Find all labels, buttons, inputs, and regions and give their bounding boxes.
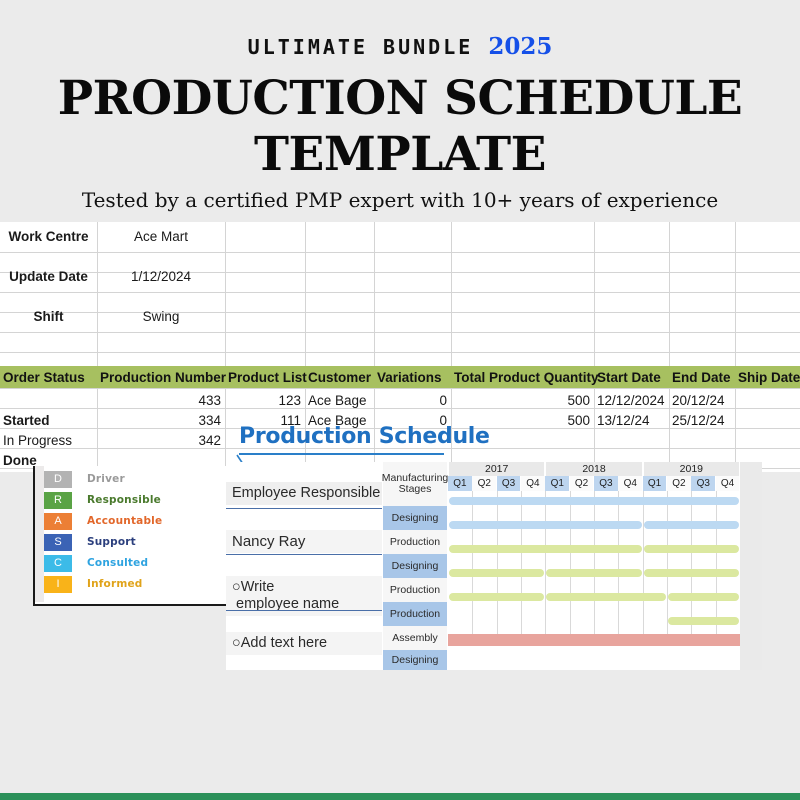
stage-cell[interactable]: Designing [383,554,447,578]
raci-key-chip: S [44,534,72,551]
gantt-bar[interactable] [644,545,739,553]
raci-key-chip: I [44,576,72,593]
gantt-bar[interactable] [449,545,642,553]
gantt-quarter-label[interactable]: Q4 [618,476,642,491]
grid-row-line [0,388,800,389]
grid-column-line [669,222,670,472]
gantt-quarter-label[interactable]: Q4 [716,476,740,491]
order-table-cell[interactable]: 500 [451,390,594,410]
order-table-cell[interactable]: 433 [97,390,225,410]
stage-cell[interactable]: Production [383,602,447,626]
employee-row-separator [226,610,382,611]
gantt-gridline [570,491,571,634]
stage-cell[interactable]: Production [383,530,447,554]
order-column-header[interactable]: Ship Date [735,366,800,388]
gantt-gridline [716,491,717,634]
stage-cell[interactable]: Production [383,578,447,602]
stages-header-text: ManufacturingStages [382,473,449,495]
gantt-plot-area[interactable] [448,491,740,670]
order-column-header[interactable]: Customer [305,366,374,388]
gantt-year-label: 2018 [546,462,641,476]
kicker-text: ULTIMATE BUNDLE [248,35,474,59]
order-table-cell[interactable]: 334 [97,410,225,430]
info-row-value[interactable]: Ace Mart [97,224,225,248]
order-table-cell[interactable]: Ace Bage [305,390,374,410]
employee-name-cell[interactable]: Nancy Ray [226,530,382,553]
stage-cell[interactable]: Designing [383,506,447,530]
order-table-cell[interactable]: Ace Bage [305,410,374,430]
employee-text: ○Add text here [226,635,382,652]
gantt-bar-highlight[interactable] [448,634,740,646]
info-row-value[interactable]: 1/12/2024 [97,264,225,288]
gantt-quarter-label[interactable]: Q4 [521,476,545,491]
order-table-cell[interactable]: 13/12/24 [594,410,669,430]
grid-column-line [735,222,736,472]
raci-key-label: Accountable [87,515,162,527]
poster-title-line-1: PRODUCTION SCHEDULE [0,75,800,122]
gantt-bar[interactable] [546,593,666,601]
manufacturing-stages-column[interactable]: ManufacturingStagesDesigningProductionDe… [383,462,447,670]
raci-legend-item[interactable]: IInformed [44,575,143,593]
gantt-gridline [594,491,595,634]
gantt-gridline [667,491,668,634]
order-column-header[interactable]: Order Status [0,366,97,388]
gantt-year-header: 201720182019 [448,462,740,476]
gantt-right-margin [740,462,762,670]
gantt-gridline [521,491,522,634]
schedule-heading-underline [239,453,444,455]
gantt-bar[interactable] [668,593,739,601]
raci-key-chip: R [44,492,72,509]
grid-row-line [0,352,800,353]
order-column-header[interactable]: Product List [225,366,305,388]
order-table-cell[interactable]: Started [0,410,97,430]
order-table-cell[interactable]: 20/12/24 [669,390,735,410]
raci-left-gutter [35,466,44,602]
gantt-quarter-label[interactable]: Q3 [594,476,618,491]
raci-legend-item[interactable]: RResponsible [44,491,161,509]
gantt-quarter-label[interactable]: Q1 [448,476,472,491]
order-table-cell[interactable]: 123 [225,390,305,410]
gantt-quarter-label[interactable]: Q1 [643,476,667,491]
order-table-cell[interactable]: 500 [451,410,594,430]
order-table-cell[interactable]: 111 [225,410,305,430]
employee-name-cell[interactable]: ○Add text here [226,632,382,655]
raci-key-chip: D [44,471,72,488]
gantt-quarter-label[interactable]: Q3 [497,476,521,491]
raci-legend-item[interactable]: AAccountable [44,512,162,530]
raci-key-label: Responsible [87,494,161,506]
footer-accent-bar [0,793,800,800]
gantt-gridline [691,491,692,634]
gantt-bar[interactable] [449,521,642,529]
order-table-cell[interactable]: In Progress [0,430,97,450]
info-row-label: Work Centre [0,224,97,248]
gantt-bar[interactable] [449,497,739,505]
stage-cell[interactable]: Designing [383,650,447,670]
gantt-bar[interactable] [449,593,544,601]
gantt-gridline [497,491,498,634]
raci-legend-item[interactable]: DDriver [44,470,125,488]
gantt-bar[interactable] [546,569,641,577]
employee-row-separator [226,554,382,555]
raci-key-label: Informed [87,578,143,590]
order-table-cell[interactable]: 12/12/2024 [594,390,669,410]
stages-column-header: ManufacturingStages [383,462,447,506]
gantt-quarter-label[interactable]: Q2 [570,476,594,491]
gantt-quarter-label[interactable]: Q1 [545,476,569,491]
order-column-header[interactable]: Production Number [97,366,225,388]
employee-responsible-column[interactable]: Employee ResponsibleNancy Ray○Write empl… [226,482,382,670]
raci-key-chip: C [44,555,72,572]
grid-column-line [594,222,595,472]
kicker-year: 2025 [488,33,552,60]
order-table-cell[interactable]: Done [0,450,97,470]
employee-text: ○Write [226,579,382,596]
grid-row-line [0,332,800,333]
gantt-quarter-label[interactable]: Q2 [472,476,496,491]
info-row-value[interactable]: Swing [97,304,225,328]
info-row-label: Update Date [0,264,97,288]
gantt-timeline[interactable]: 201720182019 Q1Q2Q3Q4Q1Q2Q3Q4Q1Q2Q3Q4 [448,462,740,670]
raci-legend-item[interactable]: CConsulted [44,554,148,572]
grid-row-line [0,292,800,293]
stage-cell[interactable]: Assembly [383,626,447,650]
gantt-bar[interactable] [644,569,739,577]
gantt-year-label: 2017 [449,462,544,476]
raci-legend-card: DDriverRResponsibleAAccountableSSupportC… [33,466,233,606]
raci-key-label: Support [87,536,136,548]
gantt-gridline [643,491,644,634]
order-column-header[interactable]: Start Date [594,366,669,388]
gantt-gridline [545,491,546,634]
order-column-header[interactable]: Variations [374,366,451,388]
poster-canvas: ULTIMATE BUNDLE 2025 PRODUCTION SCHEDULE… [0,0,800,800]
raci-legend-item[interactable]: SSupport [44,533,136,551]
order-table-cell[interactable]: 0 [374,410,451,430]
info-row-label: Shift [0,304,97,328]
gantt-gridline [472,491,473,634]
order-table-cell[interactable]: 25/12/24 [669,410,735,430]
kicker-line: ULTIMATE BUNDLE 2025 [0,33,800,60]
employee-text: Employee Responsible [226,485,382,502]
raci-key-label: Consulted [87,557,148,569]
poster-title-line-2: TEMPLATE [0,131,800,178]
order-column-header[interactable]: Total Product Quantity [451,366,594,388]
gantt-bar[interactable] [644,521,739,529]
order-table-cell[interactable]: 0 [374,390,451,410]
employee-row-separator [226,508,382,509]
order-column-header[interactable]: End Date [669,366,735,388]
gantt-bar[interactable] [449,569,544,577]
gantt-quarter-label[interactable]: Q2 [667,476,691,491]
gantt-quarter-label[interactable]: Q3 [691,476,715,491]
raci-key-chip: A [44,513,72,530]
gantt-chart[interactable]: Employee ResponsibleNancy Ray○Write empl… [226,462,762,670]
gantt-gridline [618,491,619,634]
employee-column-header: Employee Responsible [226,482,382,505]
gantt-year-label: 2019 [644,462,739,476]
gantt-quarter-header[interactable]: Q1Q2Q3Q4Q1Q2Q3Q4Q1Q2Q3Q4 [448,476,740,491]
raci-key-label: Driver [87,473,125,485]
order-table-cell[interactable]: 342 [97,430,225,450]
gantt-bar[interactable] [668,617,739,625]
grid-column-line [225,222,226,472]
employee-text: Nancy Ray [226,533,382,550]
grid-row-line [0,252,800,253]
poster-subtitle: Tested by a certified PMP expert with 10… [0,188,800,212]
